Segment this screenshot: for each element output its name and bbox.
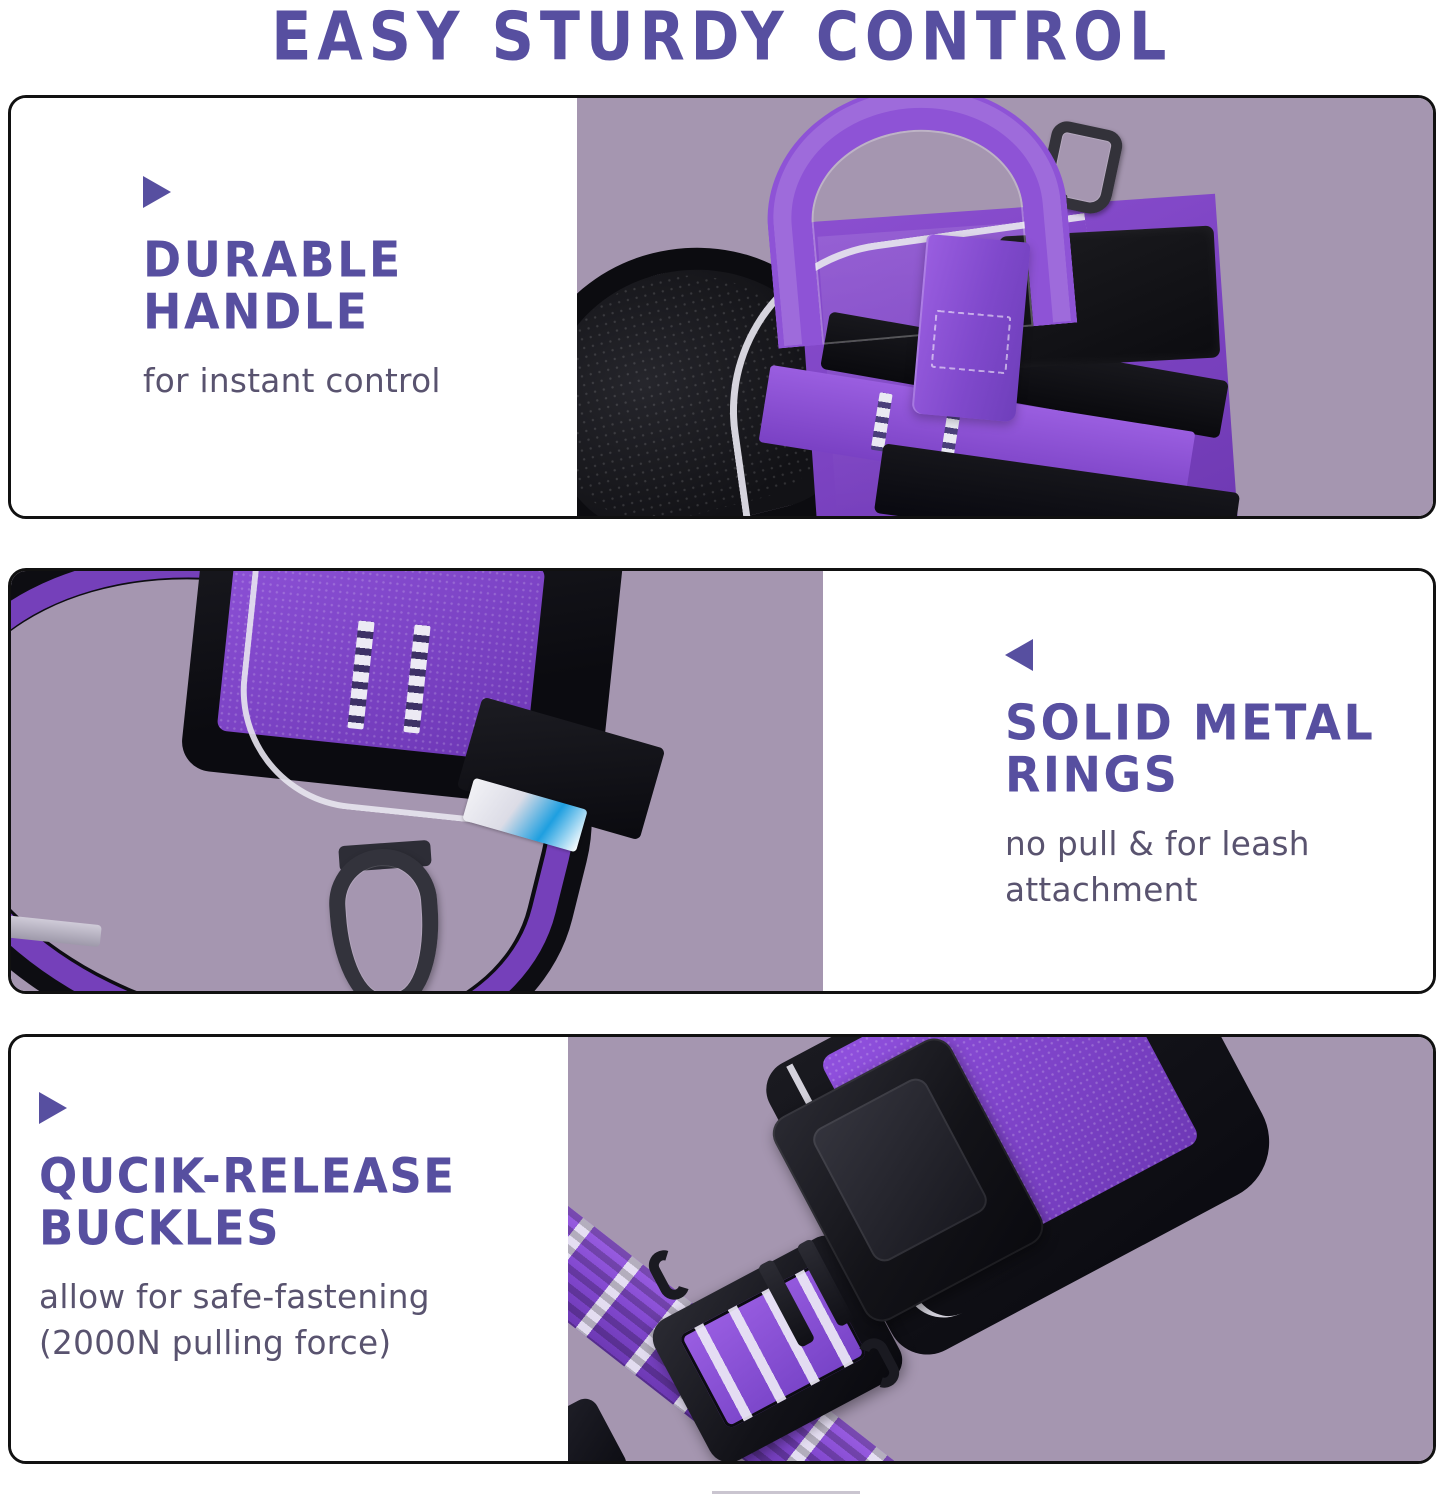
feature-subtext: no pull & for leash attachment xyxy=(1005,821,1429,913)
stitching-detail xyxy=(931,310,1012,374)
product-photo-quick-release-buckles xyxy=(568,1037,1433,1461)
page-title: EASY STURDY CONTROL xyxy=(271,0,1172,72)
triangle-right-icon xyxy=(143,176,171,208)
feature-text-block: DURABLE HANDLE for instant control xyxy=(11,98,577,516)
bottom-edge-artifact xyxy=(712,1491,860,1494)
feature-panel-durable-handle: DURABLE HANDLE for instant control xyxy=(8,95,1436,519)
feature-subtext: for instant control xyxy=(143,358,573,404)
feature-headline: DURABLE HANDLE xyxy=(143,234,577,338)
product-photo-solid-metal-rings xyxy=(11,571,823,991)
feature-headline: QUCIK-RELEASE BUCKLES xyxy=(39,1150,568,1254)
feature-text-block: SOLID METAL RINGS no pull & for leash at… xyxy=(823,571,1433,991)
page-header: EASY STURDY CONTROL xyxy=(0,0,1444,88)
strap-adjuster-slider xyxy=(568,1394,631,1461)
triangle-left-icon xyxy=(1005,639,1033,671)
feature-headline: SOLID METAL RINGS xyxy=(1005,697,1433,801)
feature-panel-solid-metal-rings: SOLID METAL RINGS no pull & for leash at… xyxy=(8,568,1436,994)
product-photo-durable-handle xyxy=(577,98,1433,516)
reflective-stripe xyxy=(871,392,893,451)
feature-text-block: QUCIK-RELEASE BUCKLES allow for safe-fas… xyxy=(11,1037,568,1461)
infographic-page: EASY STURDY CONTROL DURABLE HANDLE for i… xyxy=(0,0,1444,1500)
triangle-right-icon xyxy=(39,1092,67,1124)
feature-subtext: allow for safe-fastening (2000N pulling … xyxy=(39,1274,563,1366)
feature-panel-quick-release-buckles: QUCIK-RELEASE BUCKLES allow for safe-fas… xyxy=(8,1034,1436,1464)
